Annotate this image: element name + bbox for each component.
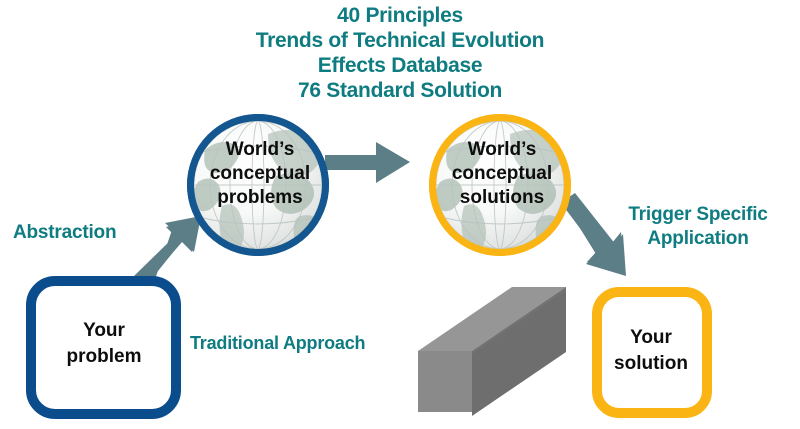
box-your-solution-label: Your solution	[596, 325, 706, 377]
abstraction-label: Abstraction	[13, 222, 116, 244]
box-your-solution-line2: solution	[596, 351, 706, 377]
header-line-1: 40 Principles	[0, 4, 800, 28]
box-your-problem-line2: problem	[36, 344, 172, 370]
globe-left	[187, 114, 329, 256]
traditional-approach-label: Traditional Approach	[190, 333, 365, 354]
box-your-problem-label: Your problem	[36, 318, 172, 370]
header-line-3: Effects Database	[0, 54, 800, 78]
box-your-solution-line1: Your	[596, 325, 706, 351]
header-line-4: 76 Standard Solution	[0, 79, 800, 103]
analogy-arrow-icon	[325, 142, 410, 183]
diagram-canvas: 40 Principles Trends of Technical Evolut…	[0, 0, 800, 429]
globe-right	[429, 114, 571, 256]
barrier-block	[418, 287, 566, 416]
trigger-specific-application-label: Trigger Specific Application	[600, 203, 796, 251]
box-your-problem-line1: Your	[36, 318, 172, 344]
header-line-2: Trends of Technical Evolution	[0, 29, 800, 53]
